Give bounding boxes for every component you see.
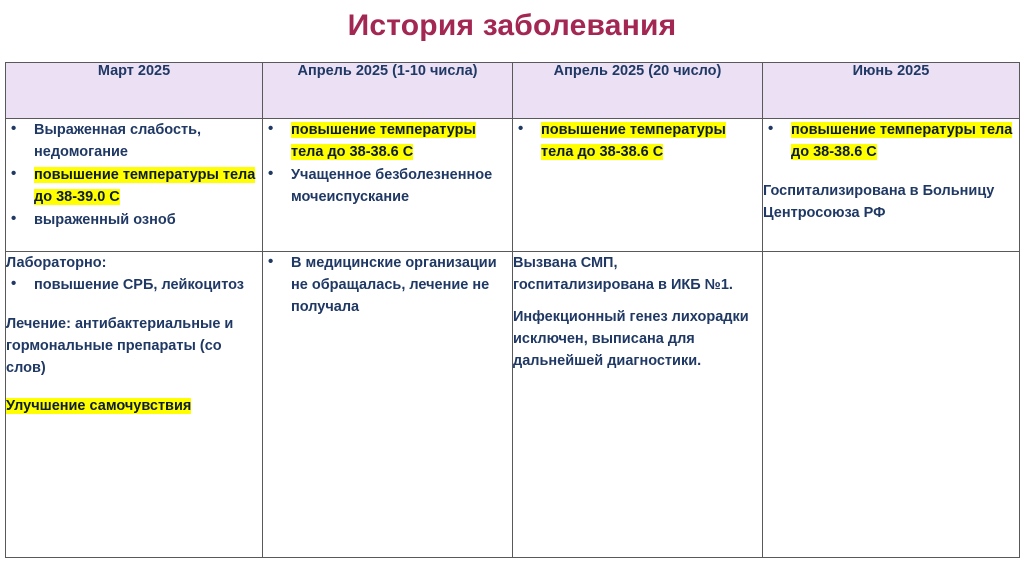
list-item-text-highlighted: повышение температуры тела до 38-39.0 С [34,167,255,205]
table-header-row: Март 2025 Апрель 2025 (1-10 числа) Апрел… [6,63,1020,119]
list-item-text-highlighted: повышение температуры тела до 38-38.6 С [541,122,726,160]
history-table: Март 2025 Апрель 2025 (1-10 числа) Апрел… [5,62,1020,558]
list-item: выраженный озноб [6,209,262,231]
list-item: повышение температуры тела до 38-39.0 С [6,164,262,208]
list-item: В медицинские организации не обращалась,… [263,252,512,318]
list-item: повышение СРБ, лейкоцитоз [6,274,262,296]
cell-content: Лабораторно: повышение СРБ, лейкоцитоз Л… [6,252,262,417]
list-item-text: выраженный озноб [34,212,176,228]
labs-label: Лабораторно: [6,252,262,274]
vertical-spacer [6,379,262,395]
outcome-text-highlighted: Улучшение самочувствия [6,398,191,414]
cell-content: повышение температуры тела до 38-38.6 С … [263,119,512,208]
vertical-spacer [763,164,1019,180]
slide-root: История заболевания Март 2025 Апрель 202… [0,0,1024,566]
cell-content: повышение температуры тела до 38-38.6 С … [763,119,1019,224]
symptom-list: повышение температуры тела до 38-38.6 С [763,119,1019,163]
labs-list: повышение СРБ, лейкоцитоз [6,274,262,296]
cell-content: повышение температуры тела до 38-38.6 С [513,119,762,163]
cell-march-labs-treatment: Лабораторно: повышение СРБ, лейкоцитоз Л… [6,252,263,558]
cell-june-symptoms: повышение температуры тела до 38-38.6 С … [763,119,1020,252]
list-item-text: Учащенное безболезненное мочеиспускание [291,167,492,205]
cell-march-symptoms: Выраженная слабость, недомогание повышен… [6,119,263,252]
cell-content: Вызвана СМП, госпитализирована в ИКБ №1.… [513,252,762,372]
column-header-march-2025: Март 2025 [6,63,263,119]
table-row: Выраженная слабость, недомогание повышен… [6,119,1020,252]
list-item: повышение температуры тела до 38-38.6 С [263,119,512,163]
list-item-text: Выраженная слабость, недомогание [34,122,201,160]
symptom-list: повышение температуры тела до 38-38.6 С [513,119,762,163]
diagnosis-note: Инфекционный генез лихорадки исключен, в… [513,306,762,372]
list-item: Учащенное безболезненное мочеиспускание [263,164,512,208]
vertical-spacer [6,297,262,313]
column-header-june-2025: Июнь 2025 [763,63,1020,119]
page-title: История заболевания [0,4,1024,48]
vertical-spacer [513,296,762,306]
cell-april-20-care: Вызвана СМП, госпитализирована в ИКБ №1.… [513,252,763,558]
list-item: Выраженная слабость, недомогание [6,119,262,163]
list-item-text: В медицинские организации не обращалась,… [291,255,497,315]
care-list: В медицинские организации не обращалась,… [263,252,512,318]
symptom-list: Выраженная слабость, недомогание повышен… [6,119,262,231]
list-item-text-highlighted: повышение температуры тела до 38-38.6 С [791,122,1012,160]
cell-april-1-10-care: В медицинские организации не обращалась,… [263,252,513,558]
cell-april-1-10-symptoms: повышение температуры тела до 38-38.6 С … [263,119,513,252]
list-item: повышение температуры тела до 38-38.6 С [763,119,1019,163]
cell-content: В медицинские организации не обращалась,… [263,252,512,318]
cell-content: Выраженная слабость, недомогание повышен… [6,119,262,231]
list-item-text-highlighted: повышение температуры тела до 38-38.6 С [291,122,476,160]
column-header-april-2025-1-10: Апрель 2025 (1-10 числа) [263,63,513,119]
symptom-list: повышение температуры тела до 38-38.6 С … [263,119,512,208]
cell-june-care-empty [763,252,1020,558]
table-body: Выраженная слабость, недомогание повышен… [6,119,1020,558]
history-table-wrapper: Март 2025 Апрель 2025 (1-10 числа) Апрел… [5,62,1019,558]
table-row: Лабораторно: повышение СРБ, лейкоцитоз Л… [6,252,1020,558]
list-item-text: повышение СРБ, лейкоцитоз [34,277,244,293]
list-item: повышение температуры тела до 38-38.6 С [513,119,762,163]
cell-april-20-symptoms: повышение температуры тела до 38-38.6 С [513,119,763,252]
hospitalization-note: Госпитализирована в Больницу Центросоюза… [763,180,1019,224]
treatment-note: Лечение: антибактериальные и гормональны… [6,313,262,379]
column-header-april-2025-20: Апрель 2025 (20 число) [513,63,763,119]
emergency-note: Вызвана СМП, госпитализирована в ИКБ №1. [513,252,762,296]
outcome-note: Улучшение самочувствия [6,395,262,417]
table-header-row-group: Март 2025 Апрель 2025 (1-10 числа) Апрел… [6,63,1020,119]
